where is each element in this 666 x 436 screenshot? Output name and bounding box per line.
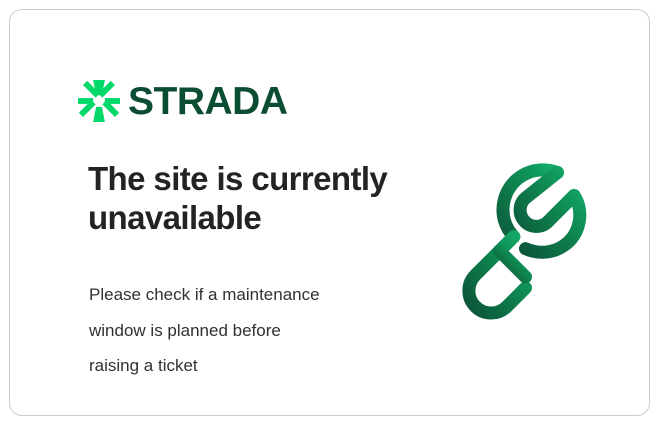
error-page: STRADA The site is currently unavailable… bbox=[0, 0, 666, 436]
status-card: STRADA The site is currently unavailable… bbox=[9, 9, 650, 416]
wrench-icon bbox=[462, 155, 626, 323]
page-title: The site is currently unavailable bbox=[88, 160, 428, 237]
strada-asterisk-icon bbox=[78, 80, 120, 122]
brand-wordmark: STRADA bbox=[128, 82, 288, 121]
description-line: raising a ticket bbox=[89, 348, 399, 384]
page-description: Please check if a maintenance window is … bbox=[89, 277, 399, 384]
brand-lockup: STRADA bbox=[78, 76, 288, 126]
description-line: window is planned before bbox=[89, 313, 399, 349]
description-line: Please check if a maintenance bbox=[89, 277, 399, 313]
